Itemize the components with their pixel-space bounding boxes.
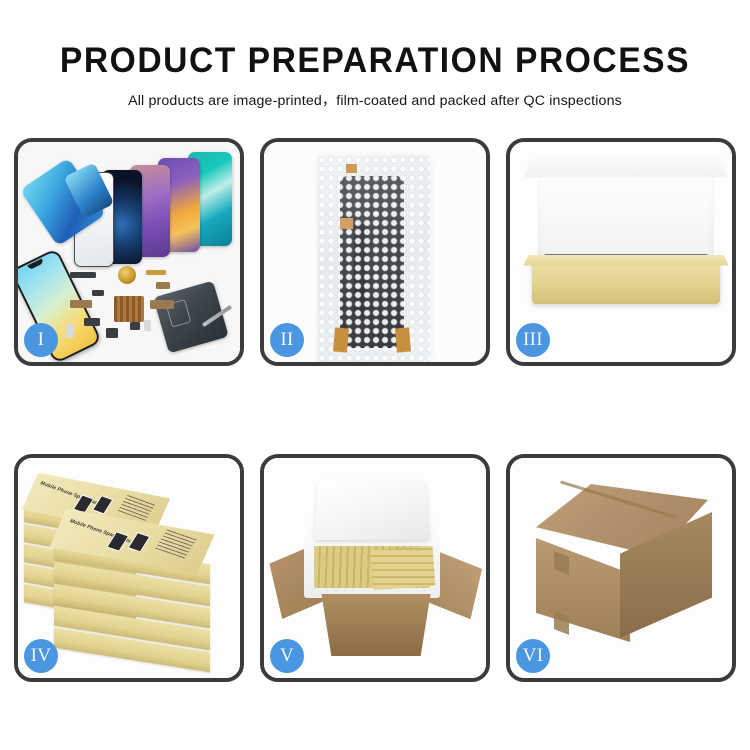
process-step-panel-3: III	[506, 138, 736, 366]
bubble-wrap-pouch-icon	[318, 156, 430, 362]
tape-piece-right	[395, 327, 411, 352]
process-step-panel-1: I	[14, 138, 244, 366]
speaker-part-icon	[118, 266, 136, 284]
part-flex-cable-c	[70, 300, 92, 308]
box-label-spec-front	[155, 529, 197, 559]
yellow-boxes-inside-b	[371, 546, 436, 590]
step-badge-4: IV	[24, 639, 58, 673]
box-label-rear: Mobile Phone Spare Parts	[39, 480, 103, 507]
styrofoam-lid-icon	[314, 480, 431, 540]
step-badge-1: I	[24, 323, 58, 357]
process-step-panel-4: Mobile Phone Spare Parts Mobile Phone Sp…	[14, 454, 244, 682]
box-label-spec-rear	[118, 493, 157, 521]
step-badge-2: II	[270, 323, 304, 357]
product-preparation-process-page: PRODUCT PREPARATION PROCESS All products…	[0, 0, 750, 750]
part-button-key	[144, 320, 151, 331]
page-subtitle: All products are image-printed，film-coat…	[0, 90, 750, 110]
tape-piece-top	[346, 164, 357, 173]
step-badge-6: VI	[516, 639, 550, 673]
tape-piece-left	[333, 327, 349, 352]
process-step-grid: I II	[14, 138, 736, 682]
process-step-panel-5: V	[260, 454, 490, 682]
box-label-image-rear-b	[92, 495, 113, 514]
yellow-box-base-icon	[532, 260, 720, 304]
carton-body-icon	[314, 594, 438, 656]
part-flex-cable-b	[156, 282, 170, 289]
process-step-panel-2: II	[260, 138, 490, 366]
part-connector	[92, 290, 104, 296]
part-vibrator	[106, 328, 118, 338]
box-label-image-front-b	[128, 532, 151, 552]
step-badge-3: III	[516, 323, 550, 357]
tape-piece-middle	[340, 218, 353, 229]
part-ic-chip	[130, 322, 140, 330]
box-stack-group: Mobile Phone Spare Parts Mobile Phone Sp…	[24, 476, 238, 668]
part-camera-module	[84, 318, 100, 326]
part-flex-cable-a	[146, 270, 166, 275]
process-step-panel-6: VI	[506, 454, 736, 682]
white-foam-sheet-icon	[544, 200, 708, 262]
page-header: PRODUCT PREPARATION PROCESS All products…	[0, 40, 750, 110]
part-flex-cable-d	[150, 300, 174, 309]
part-sim-tray	[66, 324, 74, 338]
page-title: PRODUCT PREPARATION PROCESS	[15, 40, 735, 82]
part-battery-strip	[70, 272, 96, 278]
chip-array-icon	[114, 296, 144, 322]
step-badge-5: V	[270, 639, 304, 673]
